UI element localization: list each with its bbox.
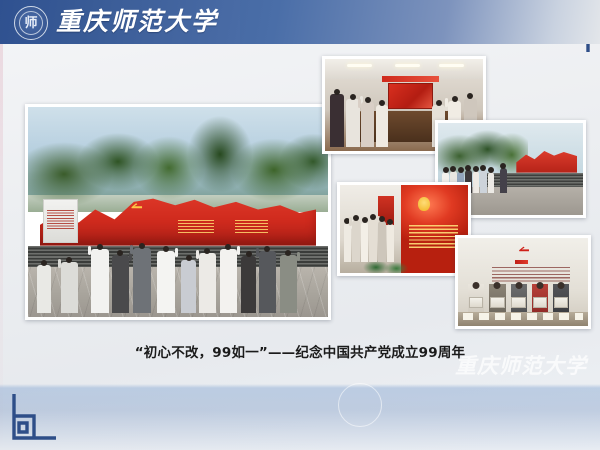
university-seal-logo: 师 — [14, 6, 48, 40]
attendees-group — [343, 217, 397, 263]
tree-canopy — [28, 107, 328, 212]
university-name: 重庆师范大学 — [56, 3, 218, 41]
slide-canvas: 师 重庆师范大学 — [0, 0, 600, 450]
slide-header: 师 重庆师范大学 — [0, 0, 600, 44]
photo-oathwall-content — [340, 185, 468, 273]
university-seal-glyph: 师 — [15, 16, 47, 29]
photo-award-placards[interactable] — [455, 235, 591, 329]
crowd-group — [28, 225, 328, 313]
corner-ornament-bottom-left-icon — [6, 392, 58, 444]
slide-caption: “初心不改，99如一”——纪念中国共产党成立99周年 — [0, 343, 600, 363]
red-banner — [382, 76, 439, 82]
oath-wall-text — [492, 267, 570, 283]
photo-award-content — [458, 238, 588, 326]
ceiling-light-icon — [395, 64, 420, 68]
ceiling-light-icon — [347, 64, 372, 68]
document-desk — [458, 312, 588, 326]
awardees-group — [461, 284, 586, 316]
oath-text-block — [409, 225, 458, 248]
ceiling-light-icon — [439, 64, 464, 68]
photo-main-oath-monument[interactable] — [25, 104, 331, 320]
oath-wall-title — [515, 260, 528, 264]
university-seal-watermark — [338, 383, 382, 427]
party-emblem-icon — [418, 197, 430, 211]
photo-oath-wall-indoor[interactable] — [337, 182, 471, 276]
photo-main-content — [28, 107, 328, 317]
bottom-gradient-band — [0, 384, 600, 450]
